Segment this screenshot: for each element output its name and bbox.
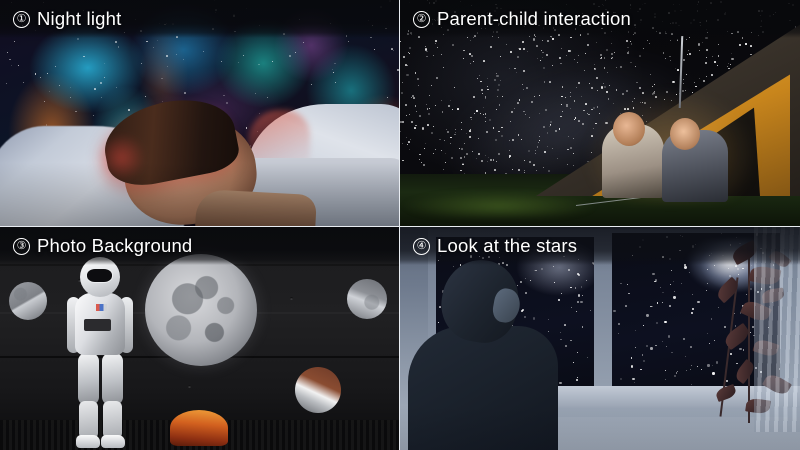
astronaut-boot-left: [76, 435, 100, 448]
panel-label-text: Night light: [37, 8, 121, 30]
panel-label-text: Photo Background: [37, 235, 192, 257]
wall-bolt: [290, 297, 293, 300]
panel-number-badge: ①: [13, 11, 30, 28]
astronaut-suit-badge: [96, 304, 107, 311]
large-moon-projection: [145, 254, 257, 366]
panel-label-banner: ② Parent-child interaction: [400, 0, 800, 38]
astronaut-leg-lower-right: [103, 401, 122, 439]
panel-label-text: Parent-child interaction: [437, 8, 631, 30]
panel-number-badge: ④: [413, 238, 430, 255]
feature-panel-grid: ① Night light ② Parent-child interaction: [0, 0, 800, 450]
panel-parent-child-interaction[interactable]: ② Parent-child interaction: [400, 0, 800, 226]
panel-number-badge: ②: [413, 11, 430, 28]
astronaut-leg-upper-left: [78, 353, 99, 405]
small-moon-left: [9, 282, 47, 320]
panel-look-at-the-stars[interactable]: ④ Look at the stars: [400, 227, 800, 450]
astronaut-leg-upper-right: [102, 353, 123, 405]
astronaut-boot-right: [101, 435, 125, 448]
orange-planet-projection: [170, 410, 228, 446]
astronaut-leg-lower-left: [79, 401, 98, 439]
panel-label-banner: ③ Photo Background: [0, 227, 399, 265]
parent-figure: [602, 124, 664, 198]
panel-label-banner: ① Night light: [0, 0, 399, 38]
panel-night-light[interactable]: ① Night light: [0, 0, 399, 226]
panel-number-badge: ③: [13, 238, 30, 255]
panel-label-text: Look at the stars: [437, 235, 577, 257]
red-moon-projection: [295, 367, 341, 413]
small-moon-right: [347, 279, 387, 319]
astronaut-visor: [86, 268, 113, 283]
child-figure: [662, 130, 728, 202]
astronaut-chest-pack: [84, 319, 111, 331]
panel-label-banner: ④ Look at the stars: [400, 227, 800, 265]
wall-bolt: [188, 385, 191, 388]
panel-photo-background[interactable]: ③ Photo Background: [0, 227, 399, 450]
astronaut-figure: [68, 257, 132, 449]
